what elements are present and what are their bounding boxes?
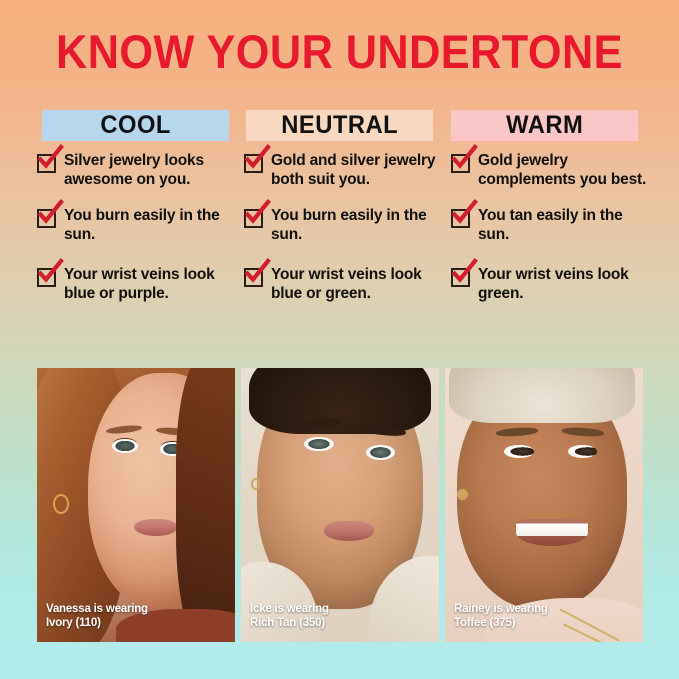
checklist-item: You tan easily in the sun. [451,207,651,244]
checklist-column-neutral: Gold and silver jewelry both suit you. Y… [244,152,444,303]
checklist-item-label: Gold jewelry complements you best. [478,152,651,189]
checkmark-icon [244,268,263,287]
hair-shape [449,368,635,423]
checklist-item-label: Your wrist veins look blue or green. [271,266,444,303]
checklist-item-label: Gold and silver jewelry both suit you. [271,152,444,189]
checkmark-icon [37,209,56,228]
checklist-item-label: You tan easily in the sun. [478,207,651,244]
eye-shape [366,445,396,460]
photo-caption-line2: Ivory (110) [46,617,148,631]
band-cool: COOL [42,110,229,141]
photo-caption-line1: Rainey is wearing [454,603,548,617]
hair-shape [176,368,235,642]
checklist-item: Your wrist veins look blue or green. [244,266,444,303]
checkmark-icon [244,209,263,228]
checklist-item: Gold and silver jewelry both suit you. [244,152,444,189]
band-neutral: NEUTRAL [246,110,433,141]
photo-caption: Rainey is wearing Toffee (375) [454,603,548,630]
undertone-infographic: KNOW YOUR UNDERTONE COOL NEUTRAL WARM Si… [0,0,679,679]
eye-shape [112,439,138,453]
checklist-item: Gold jewelry complements you best. [451,152,651,189]
band-cool-label: COOL [100,111,171,140]
photo-caption-line1: Vanessa is wearing [46,603,148,617]
smile-shape [516,519,587,546]
undertone-header-bands: COOL NEUTRAL WARM [37,110,643,141]
band-warm-label: WARM [506,111,583,140]
model-photo-rainey: Rainey is wearing Toffee (375) [445,368,643,642]
photo-caption: Vanessa is wearing Ivory (110) [46,603,148,630]
photo-caption: Icke is wearing Rich Tan (350) [250,603,329,630]
checkmark-icon [244,154,263,173]
earring-icon [457,489,468,500]
model-photo-strip: Vanessa is wearing Ivory (110) Icke is w… [37,368,643,642]
undertone-checklist-columns: Silver jewelry looks awesome on you. You… [37,152,657,303]
checkmark-icon [451,268,470,287]
checklist-item: Your wrist veins look green. [451,266,651,303]
checkmark-icon [37,154,56,173]
model-photo-icke: Icke is wearing Rich Tan (350) [241,368,439,642]
checkmark-icon [451,154,470,173]
photo-caption-line2: Rich Tan (350) [250,617,329,631]
page-title: KNOW YOUR UNDERTONE [27,27,652,77]
checklist-item: Your wrist veins look blue or purple. [37,266,237,303]
checklist-item-label: Your wrist veins look green. [478,266,651,303]
checklist-item-label: You burn easily in the sun. [271,207,444,244]
earring-icon [53,494,69,514]
earring-icon [251,478,260,490]
checklist-column-warm: Gold jewelry complements you best. You t… [451,152,651,303]
band-neutral-label: NEUTRAL [282,111,399,140]
band-warm: WARM [451,110,638,141]
photo-caption-line1: Icke is wearing [250,603,329,617]
checklist-item: You burn easily in the sun. [244,207,444,244]
checklist-item: You burn easily in the sun. [37,207,237,244]
checklist-item-label: Silver jewelry looks awesome on you. [64,152,237,189]
eye-shape [304,437,334,452]
lips-shape [324,521,374,540]
checkmark-icon [37,268,56,287]
checklist-item: Silver jewelry looks awesome on you. [37,152,237,189]
model-photo-vanessa: Vanessa is wearing Ivory (110) [37,368,235,642]
checklist-item-label: You burn easily in the sun. [64,207,237,244]
photo-caption-line2: Toffee (375) [454,617,548,631]
checklist-item-label: Your wrist veins look blue or purple. [64,266,237,303]
checkmark-icon [451,209,470,228]
checklist-column-cool: Silver jewelry looks awesome on you. You… [37,152,237,303]
